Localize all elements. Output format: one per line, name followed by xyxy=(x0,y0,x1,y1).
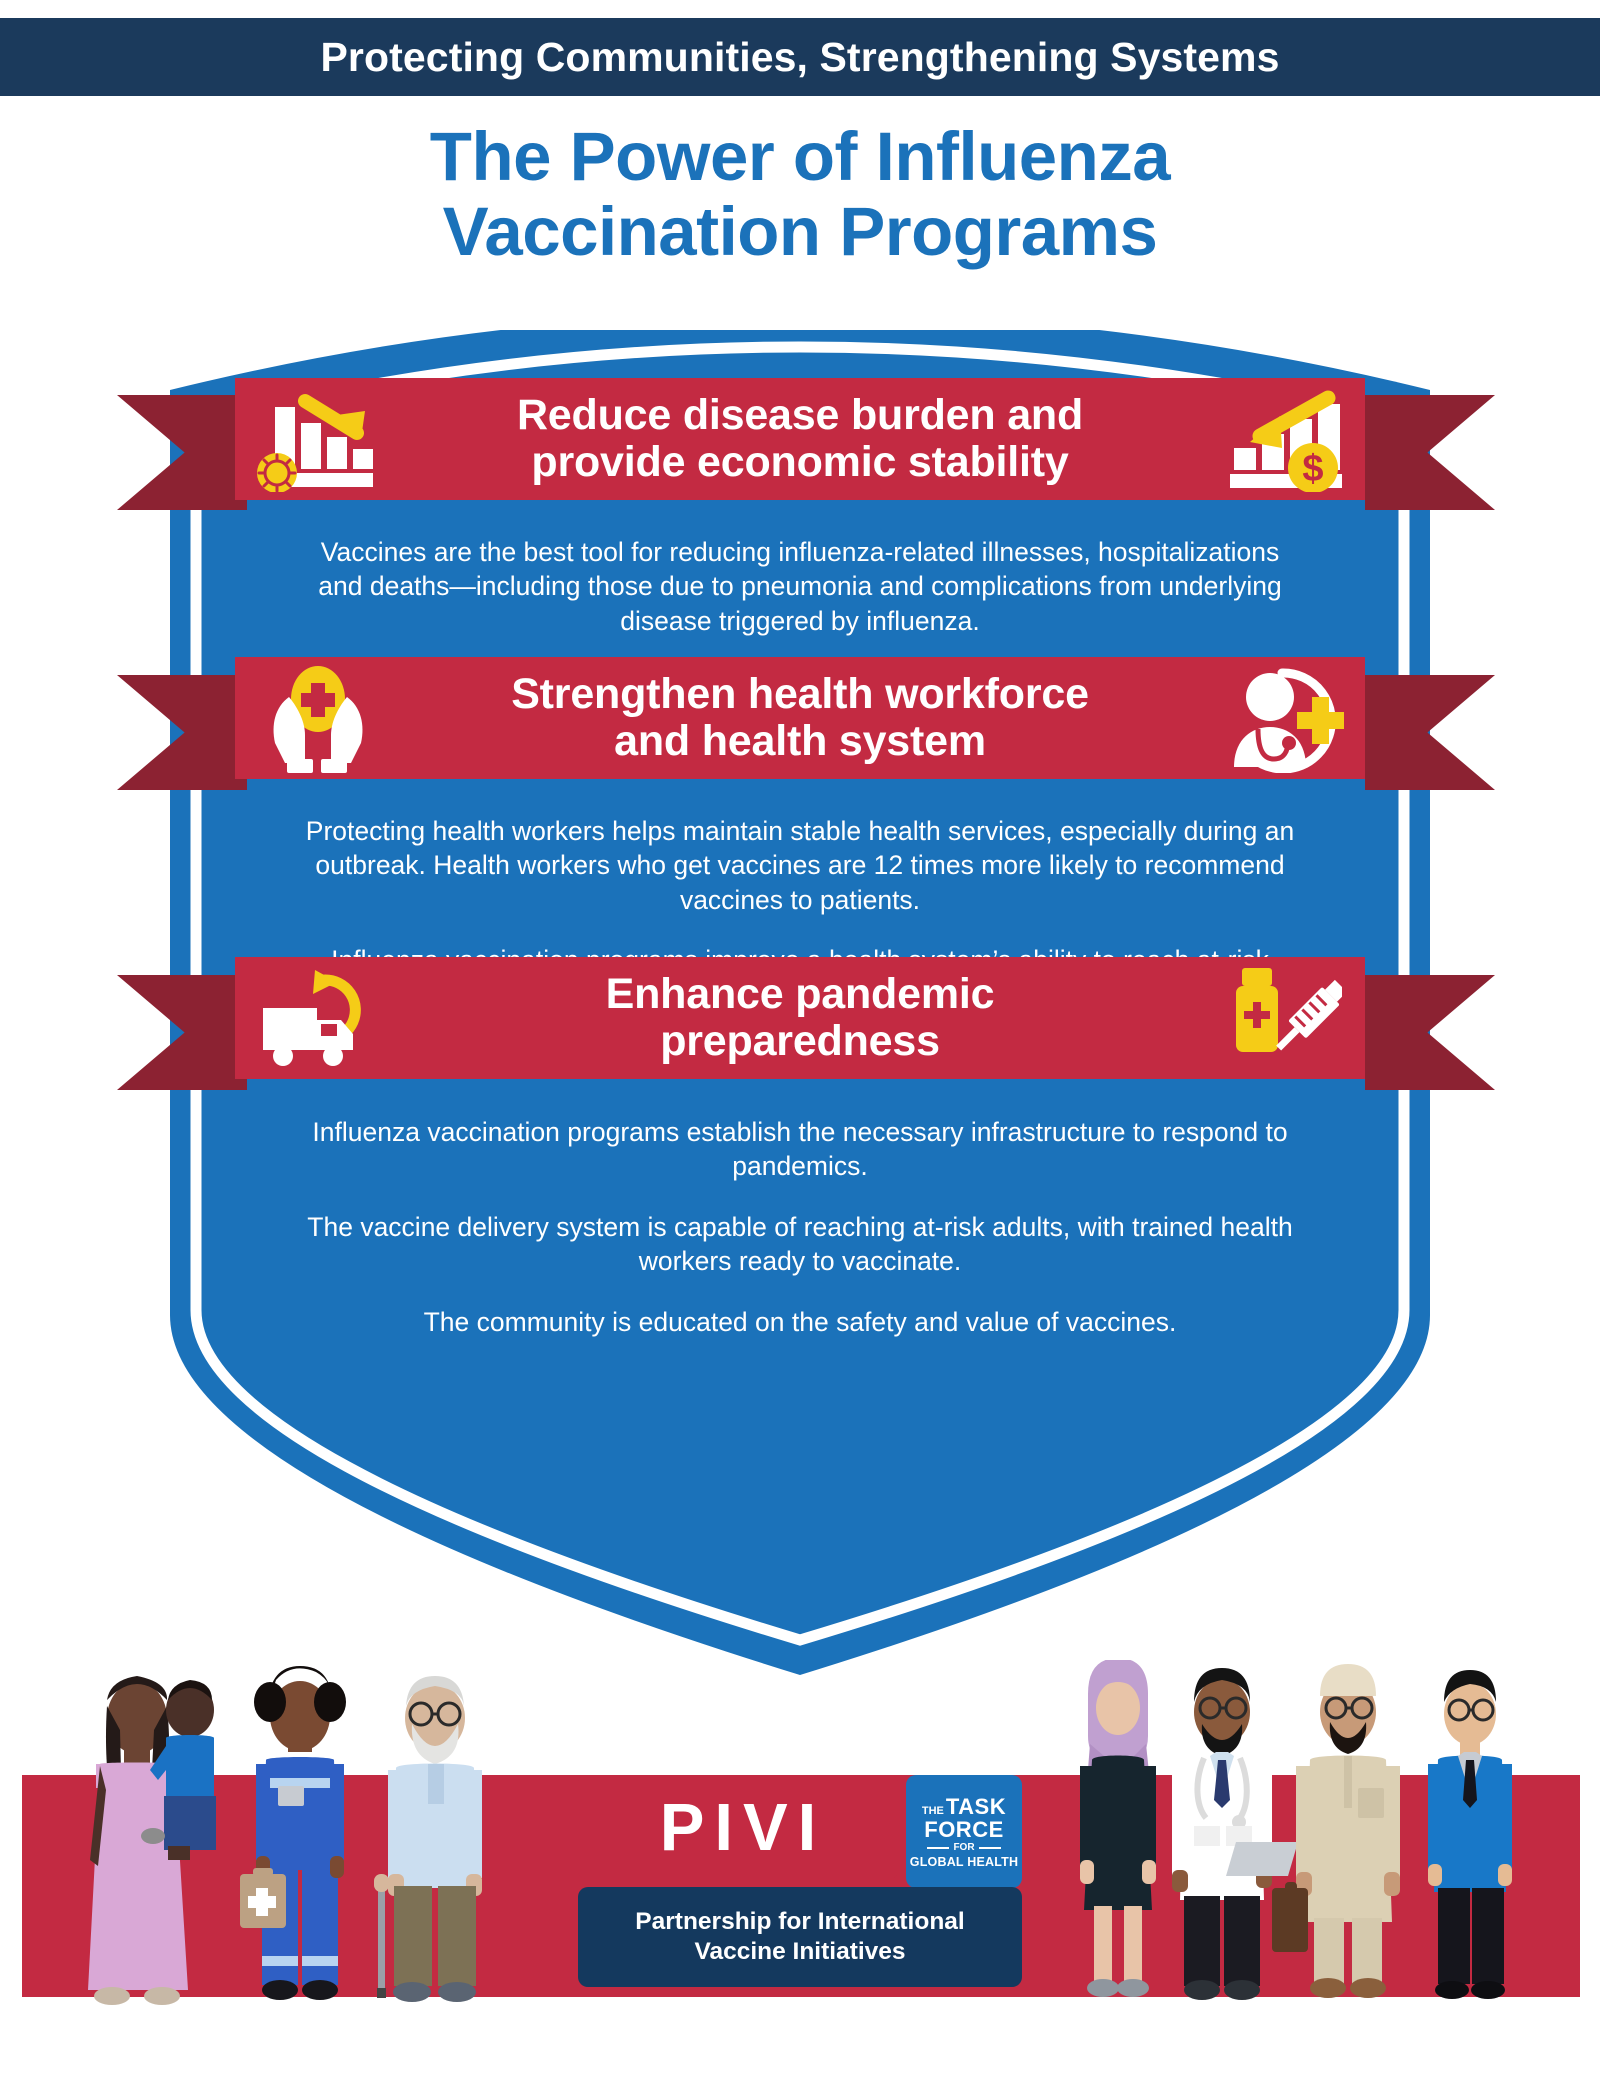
kicker-bar: Protecting Communities, Strengthening Sy… xyxy=(0,18,1600,96)
ribbon-tail-left xyxy=(117,395,247,510)
task-force-task: TASK xyxy=(946,1796,1006,1818)
person-man-in-traditional-dress xyxy=(1272,1664,1400,1998)
banner-title-line-1: Reduce disease burden and xyxy=(517,391,1083,439)
pivi-acronym: PIVI xyxy=(650,1794,827,1861)
pivi-acronym-box: PIVI xyxy=(578,1775,898,1879)
task-force-for-row: FOR xyxy=(906,1843,1022,1853)
person-female-health-worker xyxy=(240,1666,346,2000)
pivi-tagline-line-1: Partnership for International xyxy=(635,1907,964,1937)
pivi-logo-lockup: PIVI THE TASK FORCE FOR GLOBAL HEALTH Pa… xyxy=(578,1775,1022,2000)
rule-left xyxy=(927,1847,949,1849)
banner-title-line-2: preparedness xyxy=(660,1017,940,1065)
body-paragraph: The vaccine delivery system is capable o… xyxy=(295,1210,1305,1279)
task-force-force: FORCE xyxy=(924,1818,1004,1841)
person-elderly-man-with-cane xyxy=(374,1676,482,2002)
person-woman-wearing-hijab xyxy=(1080,1660,1156,1997)
pivi-tagline-box: Partnership for International Vaccine In… xyxy=(578,1887,1022,1987)
body-paragraph: Vaccines are the best tool for reducing … xyxy=(295,535,1305,638)
hands-holding-medical-cross-icon xyxy=(243,663,393,773)
person-woman-in-blue-blazer xyxy=(1428,1670,1512,1999)
task-force-the: THE xyxy=(922,1806,944,1817)
banner-title-line-1: Enhance pandemic xyxy=(606,970,995,1018)
banner-title-line-2: provide economic stability xyxy=(531,438,1068,486)
kicker-text: Protecting Communities, Strengthening Sy… xyxy=(320,34,1279,81)
shield-content: Reduce disease burden and provide econom… xyxy=(0,330,1600,1700)
body-paragraph: Protecting health workers helps maintain… xyxy=(295,814,1305,917)
ribbon-band: Reduce disease burden and provide econom… xyxy=(235,378,1365,500)
banner-title: Strengthen health workforce and health s… xyxy=(393,671,1207,766)
doctor-with-stethoscope-cross-icon xyxy=(1207,663,1357,773)
task-force-for: FOR xyxy=(953,1843,974,1853)
delivery-truck-clock-icon xyxy=(243,966,393,1071)
page-title-line-1: The Power of Influenza xyxy=(430,118,1170,195)
section-body-enhance-pandemic-preparedness: Influenza vaccination programs establish… xyxy=(0,1115,1600,1339)
task-force-line-1: THE TASK xyxy=(922,1796,1006,1818)
svg-text:$: $ xyxy=(1302,448,1323,490)
task-force-global-health: GLOBAL HEALTH xyxy=(910,1856,1018,1869)
declining-bar-chart-virus-icon xyxy=(243,387,393,492)
person-mother-holding-child xyxy=(88,1676,216,2005)
ribbon-band: Strengthen health workforce and health s… xyxy=(235,657,1365,779)
ribbon-tail-right xyxy=(1365,395,1495,510)
page-title-line-2: Vaccination Programs xyxy=(0,195,1600,270)
task-force-logo: THE TASK FORCE FOR GLOBAL HEALTH xyxy=(906,1775,1022,1888)
body-paragraph: Influenza vaccination programs establish… xyxy=(295,1115,1305,1184)
pivi-tagline-line-2: Vaccine Initiatives xyxy=(694,1937,905,1967)
body-paragraph: The community is educated on the safety … xyxy=(295,1305,1305,1339)
declining-bar-chart-dollar-icon: $ xyxy=(1207,386,1357,492)
banner-title: Enhance pandemic preparedness xyxy=(393,971,1207,1066)
page-title: The Power of Influenza Vaccination Progr… xyxy=(0,120,1600,269)
ribbon-band: Enhance pandemic preparedness xyxy=(235,957,1365,1079)
banner-title-line-1: Strengthen health workforce xyxy=(511,670,1089,718)
banner-title-line-2: and health system xyxy=(614,717,986,765)
rule-right xyxy=(979,1847,1001,1849)
banner-title: Reduce disease burden and provide econom… xyxy=(393,392,1207,487)
vaccine-vial-syringe-icon xyxy=(1207,964,1357,1072)
